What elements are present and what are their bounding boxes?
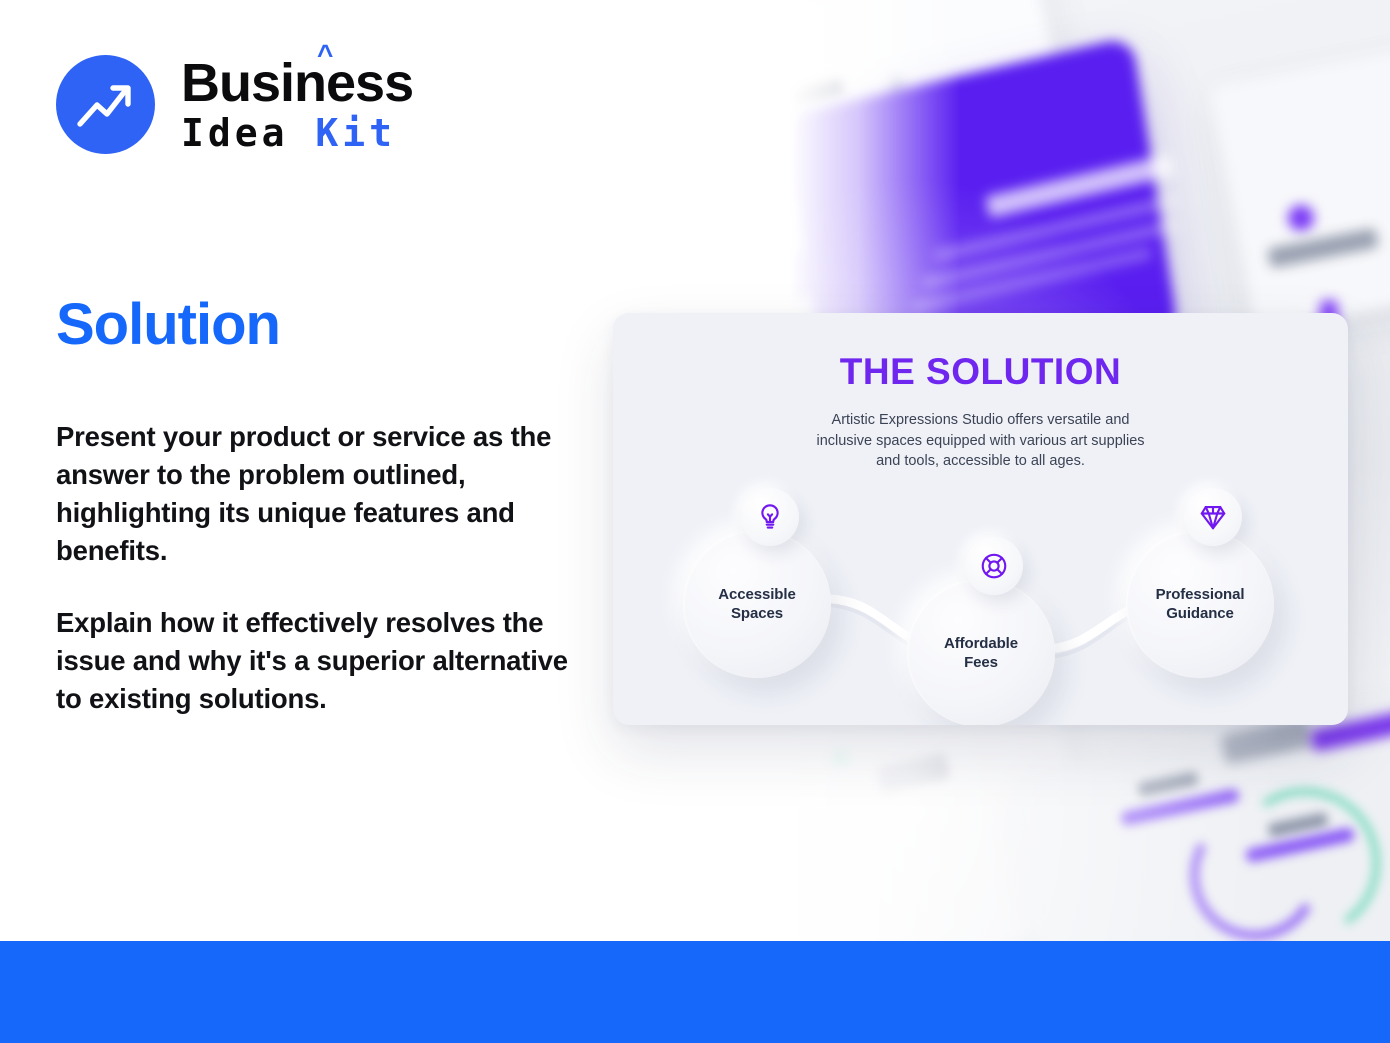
brand-wordmark: Business ^ Idea Kit bbox=[181, 56, 413, 154]
bg-purple-dot-a bbox=[1288, 205, 1314, 231]
page-title: Solution bbox=[56, 295, 280, 356]
growth-arrow-circle-icon bbox=[56, 55, 155, 154]
feature-label-line1: Affordable bbox=[944, 635, 1018, 652]
solution-card-subtitle: Artistic Expressions Studio offers versa… bbox=[806, 410, 1156, 472]
feature-circle-professional-guidance[interactable]: Professional Guidance bbox=[1126, 530, 1274, 678]
footer-bar bbox=[0, 941, 1390, 1043]
solution-card-title: THE SOLUTION bbox=[613, 351, 1348, 393]
feature-label-line2: Guidance bbox=[1166, 605, 1234, 622]
feature-label-line1: Accessible bbox=[718, 586, 795, 603]
diamond-icon bbox=[1184, 488, 1242, 546]
brand-name-line1: Business ^ bbox=[181, 56, 413, 110]
brand-idea-text: Idea bbox=[181, 111, 289, 155]
feature-label-line2: Fees bbox=[964, 654, 998, 671]
brand-logo: Business ^ Idea Kit bbox=[56, 55, 413, 154]
feature-label-line1: Professional bbox=[1156, 586, 1245, 603]
solution-card: THE SOLUTION Artistic Expressions Studio… bbox=[613, 313, 1348, 725]
brand-name-line2: Idea Kit bbox=[181, 114, 413, 154]
body-copy: Present your product or service as the a… bbox=[56, 418, 586, 718]
lightbulb-icon bbox=[741, 488, 799, 546]
presentation-slide: Business ^ Idea Kit Solution Present you… bbox=[0, 0, 1390, 1043]
body-paragraph-1: Present your product or service as the a… bbox=[56, 418, 586, 570]
feature-label-professional-guidance: Professional Guidance bbox=[1156, 585, 1245, 623]
brand-kit-text: Kit bbox=[315, 111, 396, 155]
feature-label-line2: Spaces bbox=[731, 605, 783, 622]
brand-caret-accent: ^ bbox=[317, 41, 332, 69]
feature-label-affordable-fees: Affordable Fees bbox=[944, 634, 1018, 672]
brand-name-text: Business bbox=[181, 53, 413, 113]
feature-circle-accessible-spaces[interactable]: Accessible Spaces bbox=[683, 530, 831, 678]
lifebuoy-icon bbox=[965, 537, 1023, 595]
feature-circle-affordable-fees[interactable]: Affordable Fees bbox=[907, 579, 1055, 725]
body-paragraph-2: Explain how it effectively resolves the … bbox=[56, 604, 586, 718]
bg-green-dot bbox=[830, 748, 850, 768]
feature-label-accessible-spaces: Accessible Spaces bbox=[718, 585, 795, 623]
bg-deck-card-c bbox=[1209, 37, 1390, 332]
